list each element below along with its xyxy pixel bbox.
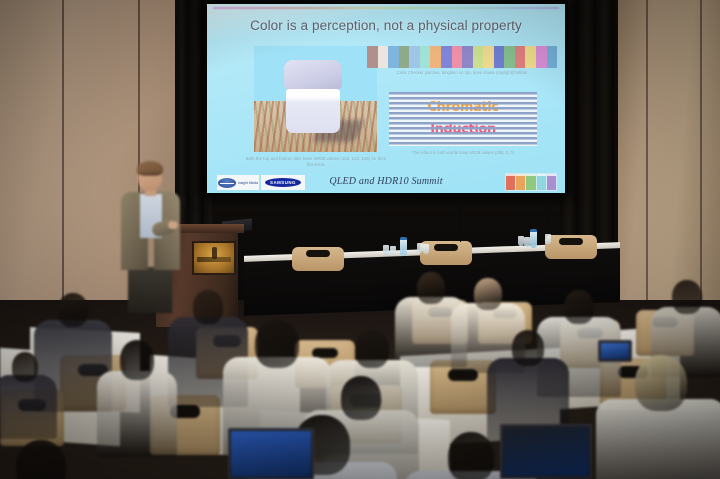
checker-swatch-13 — [504, 46, 515, 68]
projection-screen: Color is a perception, not a physical pr… — [204, 2, 568, 195]
block-tile-illusion-image — [254, 46, 377, 152]
person-head — [255, 320, 299, 368]
checker-swatch-15 — [525, 46, 536, 68]
chromatic-induction-figure: Chromatic Induction — [383, 92, 543, 154]
colorbar-logo — [505, 173, 557, 191]
checker-swatch-5 — [420, 46, 431, 68]
checker-swatch-14 — [515, 46, 526, 68]
audience-person-14 — [40, 440, 41, 441]
left-figure-caption: Both the top and bottom tiles have sRGB … — [245, 156, 387, 169]
audience-person-5 — [578, 290, 579, 291]
checker-swatch-9 — [462, 46, 473, 68]
colorbar-4 — [547, 174, 556, 190]
checker-swatch-3 — [399, 46, 410, 68]
person-torso — [97, 371, 177, 457]
audience-person-3 — [430, 272, 431, 273]
checker-swatch-1 — [378, 46, 389, 68]
checker-swatch-6 — [430, 46, 441, 68]
person-head — [564, 290, 594, 324]
person-head — [512, 330, 544, 366]
audience-person-0 — [72, 293, 73, 294]
audience-person-9 — [24, 352, 25, 353]
audience-laptop-0 — [228, 428, 314, 479]
checker-swatch-7 — [441, 46, 452, 68]
audience-laptop-1 — [500, 424, 592, 479]
audience-person-7 — [371, 330, 372, 331]
audience-person-12 — [660, 355, 661, 356]
slide-footer: Insight Media SAMSUNG QLED and HDR10 Sum… — [207, 173, 565, 193]
checker-swatch-11 — [483, 46, 494, 68]
drinking-glass-6 — [545, 234, 551, 244]
induction-word-bottom: Induction — [397, 120, 529, 139]
colorbar-0 — [506, 174, 515, 190]
presenter — [116, 163, 186, 313]
person-head — [16, 440, 66, 479]
person-head — [355, 330, 389, 368]
lectern-logo-plaque — [192, 241, 236, 275]
colorbar-1 — [516, 174, 525, 190]
person-torso — [0, 375, 57, 439]
slide-accent-gradient — [213, 7, 559, 9]
person-head — [474, 278, 502, 310]
color-checker-strip — [367, 46, 557, 68]
checker-swatch-12 — [494, 46, 505, 68]
person-head — [120, 340, 154, 380]
person-head — [417, 272, 445, 304]
drinking-glass-3 — [423, 244, 429, 254]
audience-person-6 — [686, 280, 687, 281]
panel-microphone-1 — [460, 210, 461, 242]
panel-microphone-2 — [548, 205, 549, 235]
checker-swatch-10 — [473, 46, 484, 68]
checker-swatch-0 — [367, 46, 378, 68]
block-highlight — [286, 92, 340, 100]
panel-chair-2 — [545, 235, 597, 259]
person-head — [672, 280, 702, 314]
induction-caption: The letters in both words have sRGB valu… — [377, 150, 549, 156]
block-top-tile — [284, 60, 342, 90]
water-bottle-1 — [530, 229, 537, 248]
person-head — [193, 290, 223, 324]
induction-word-top: Chromatic — [397, 98, 529, 117]
checker-swatch-2 — [388, 46, 399, 68]
slide-surface: Color is a perception, not a physical pr… — [207, 4, 565, 193]
checker-swatch-8 — [452, 46, 463, 68]
audience-person-1 — [207, 290, 208, 291]
person-head — [448, 432, 494, 479]
presenter-hand — [168, 221, 178, 229]
conference-room-photo: Color is a perception, not a physical pr… — [0, 0, 720, 479]
checker-swatch-16 — [536, 46, 547, 68]
person-head — [635, 355, 687, 411]
drinking-glass-1 — [390, 246, 396, 256]
presenter-glasses-icon — [140, 173, 160, 178]
person-head — [341, 376, 381, 420]
colorbar-2 — [526, 174, 535, 190]
water-bottle-0 — [400, 237, 407, 256]
checker-swatch-17 — [547, 46, 558, 68]
slide-title: Color is a perception, not a physical pr… — [207, 18, 565, 33]
audience-person-8 — [360, 376, 361, 377]
audience-person-4 — [487, 278, 488, 279]
audience-person-10 — [136, 340, 137, 341]
induction-stripe-panel: Chromatic Induction — [389, 92, 537, 146]
person-head — [12, 352, 38, 382]
checker-swatch-4 — [409, 46, 420, 68]
drinking-glass-0 — [383, 245, 389, 255]
checker-caption: Color Checker patches, tungsten on top, … — [362, 70, 562, 76]
plaque-text-block — [197, 257, 231, 262]
colorbar-3 — [537, 174, 546, 190]
drinking-glass-5 — [524, 237, 530, 247]
audience-person-2 — [276, 320, 277, 321]
audience-person-13 — [321, 415, 322, 416]
panel-microphone-0 — [370, 215, 371, 247]
presenter-legs — [128, 267, 172, 313]
person-head — [58, 293, 88, 327]
audience-person-11 — [527, 330, 528, 331]
panel-chair-0 — [292, 247, 344, 271]
audience-laptop-2 — [598, 340, 632, 362]
audience-person-15 — [470, 432, 471, 433]
